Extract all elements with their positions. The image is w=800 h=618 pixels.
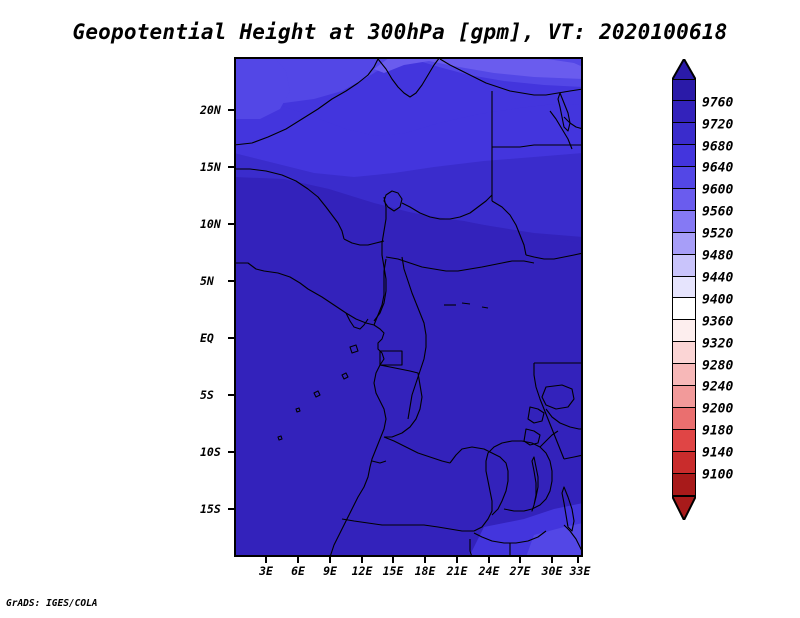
x-tick-label: 27E <box>510 564 531 578</box>
colorbar-tick-label: 9200 <box>702 402 733 417</box>
y-tick-mark <box>228 508 234 510</box>
colorbar-tick-label: 9180 <box>702 424 733 439</box>
colorbar[interactable] <box>672 80 696 496</box>
colorbar-tick-label: 9140 <box>702 446 733 461</box>
y-tick-label: 10S <box>200 445 228 459</box>
x-tick-mark <box>519 557 521 563</box>
colorbar-band <box>672 341 696 365</box>
colorbar-band <box>672 451 696 475</box>
x-tick-label: 30E <box>542 564 563 578</box>
y-tick-mark <box>228 109 234 111</box>
y-tick-mark <box>228 394 234 396</box>
x-tick-mark <box>265 557 267 563</box>
plot-border <box>234 57 583 557</box>
colorbar-band <box>672 473 696 497</box>
y-tick-mark <box>228 337 234 339</box>
y-tick-label: EQ <box>200 331 228 345</box>
colorbar-band <box>672 210 696 234</box>
colorbar-band <box>672 232 696 256</box>
map-plot-area <box>234 57 583 557</box>
x-tick-mark <box>551 557 553 563</box>
x-tick-mark <box>361 557 363 563</box>
colorbar-tick-label: 9280 <box>702 358 733 373</box>
colorbar-tick-label: 9100 <box>702 468 733 483</box>
y-tick-mark <box>228 280 234 282</box>
x-tick-mark <box>577 557 579 563</box>
colorbar-band <box>672 385 696 409</box>
y-tick-label: 5S <box>200 388 228 402</box>
colorbar-tick-label: 9360 <box>702 314 733 329</box>
colorbar-band <box>672 276 696 300</box>
y-tick-label: 5N <box>200 274 228 288</box>
colorbar-tick-label: 9600 <box>702 183 733 198</box>
colorbar-tick-label: 9440 <box>702 270 733 285</box>
colorbar-band <box>672 363 696 387</box>
x-tick-mark <box>424 557 426 563</box>
colorbar-band <box>672 166 696 190</box>
x-tick-mark <box>329 557 331 563</box>
colorbar-tick-label: 9240 <box>702 380 733 395</box>
x-tick-label: 33E <box>570 564 591 578</box>
y-tick-mark <box>228 166 234 168</box>
page-title: Geopotential Height at 300hPa [gpm], VT:… <box>0 20 800 44</box>
x-tick-mark <box>297 557 299 563</box>
colorbar-top-arrow-outline <box>672 59 696 80</box>
x-tick-label: 18E <box>415 564 436 578</box>
colorbar-tick-label: 9680 <box>702 139 733 154</box>
colorbar-band <box>672 78 696 102</box>
colorbar-bottom-arrow <box>672 496 696 520</box>
x-tick-label: 15E <box>383 564 404 578</box>
colorbar-band <box>672 254 696 278</box>
y-tick-label: 15S <box>200 502 228 516</box>
x-tick-label: 3E <box>259 564 273 578</box>
colorbar-band <box>672 407 696 431</box>
colorbar-band <box>672 144 696 168</box>
y-tick-label: 10N <box>200 217 228 231</box>
x-tick-mark <box>456 557 458 563</box>
colorbar-tick-label: 9760 <box>702 95 733 110</box>
colorbar-tick-label: 9520 <box>702 227 733 242</box>
y-tick-mark <box>228 223 234 225</box>
x-tick-label: 12E <box>352 564 373 578</box>
colorbar-tick-label: 9560 <box>702 205 733 220</box>
colorbar-band <box>672 297 696 321</box>
colorbar-band <box>672 319 696 343</box>
colorbar-band <box>672 429 696 453</box>
colorbar-band <box>672 122 696 146</box>
y-tick-mark <box>228 451 234 453</box>
x-tick-mark <box>488 557 490 563</box>
grads-plot-page: Geopotential Height at 300hPa [gpm], VT:… <box>0 0 800 618</box>
x-tick-label: 6E <box>291 564 305 578</box>
colorbar-tick-label: 9320 <box>702 336 733 351</box>
colorbar-tick-label: 9400 <box>702 292 733 307</box>
y-tick-label: 15N <box>200 160 228 174</box>
colorbar-band <box>672 100 696 124</box>
y-tick-label: 20N <box>200 103 228 117</box>
colorbar-band <box>672 188 696 212</box>
x-tick-label: 21E <box>447 564 468 578</box>
x-tick-label: 24E <box>479 564 500 578</box>
footer-credit: GrADS: IGES/COLA <box>6 598 98 609</box>
x-tick-mark <box>392 557 394 563</box>
colorbar-tick-label: 9720 <box>702 117 733 132</box>
x-tick-label: 9E <box>323 564 337 578</box>
colorbar-tick-label: 9640 <box>702 161 733 176</box>
colorbar-tick-label: 9480 <box>702 249 733 264</box>
